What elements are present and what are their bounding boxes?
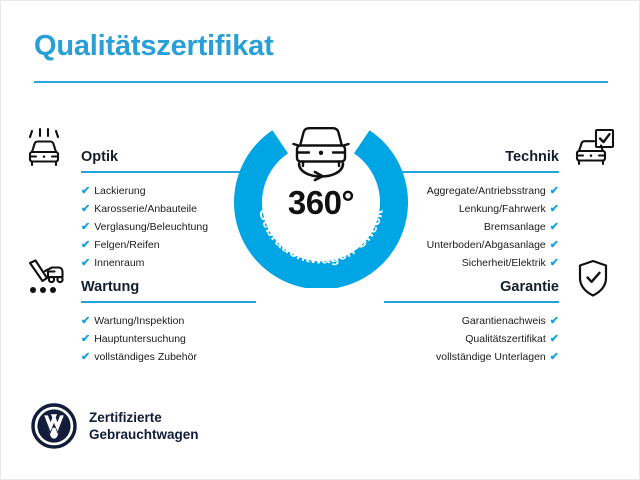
section-optik-header: Optik <box>24 127 256 173</box>
check-icon: ✔ <box>81 221 90 233</box>
section-optik-underline <box>81 171 256 173</box>
section-garantie-underline <box>384 301 559 303</box>
badge-360-gebrauchtwagen-check: Gebrauchtwagen-Check 360° <box>234 114 408 288</box>
list-item: ✔Lackierung <box>81 182 256 200</box>
section-optik-title: Optik <box>81 150 256 166</box>
check-icon: ✔ <box>550 315 559 327</box>
shield-check-icon <box>570 257 616 301</box>
section-wartung: Wartung ✔Wartung/Inspektion ✔Hauptunters… <box>24 257 256 367</box>
list-item-label: Felgen/Reifen <box>94 239 159 251</box>
section-garantie-title: Garantie <box>384 280 559 296</box>
list-item: Lenkung/Fahrwerk✔ <box>384 200 559 218</box>
list-item: ✔Karosserie/Anbauteile <box>81 200 256 218</box>
list-item: vollständige Unterlagen✔ <box>384 348 559 366</box>
section-technik: Technik Aggregate/Antriebsstrang✔ Lenkun… <box>384 127 616 273</box>
list-item-label: Garantienachweis <box>462 315 546 327</box>
car-wrench-icon <box>24 257 70 301</box>
section-technik-titlewrap: Technik <box>384 150 559 173</box>
list-item-label: Karosserie/Anbauteile <box>94 203 197 215</box>
header: Qualitätszertifikat <box>34 31 608 83</box>
section-garantie-list: Garantienachweis✔ Qualitätszertifikat✔ v… <box>384 312 616 367</box>
check-icon: ✔ <box>81 203 90 215</box>
list-item-label: Verglasung/Beleuchtung <box>94 221 208 233</box>
list-item-label: Unterboden/Abgasanlage <box>427 239 546 251</box>
footer-logo: Zertifizierte Gebrauchtwagen <box>31 403 199 449</box>
certificate-page: Qualitätszertifikat Optik ✔Lackieru <box>0 0 640 480</box>
list-item: Qualitätszertifikat✔ <box>384 330 559 348</box>
list-item: ✔Wartung/Inspektion <box>81 312 256 330</box>
section-technik-title: Technik <box>384 150 559 166</box>
section-technik-header: Technik <box>384 127 616 173</box>
check-icon: ✔ <box>550 203 559 215</box>
list-item: Aggregate/Antriebsstrang✔ <box>384 182 559 200</box>
check-icon: ✔ <box>550 239 559 251</box>
check-icon: ✔ <box>550 351 559 363</box>
section-technik-underline <box>384 171 559 173</box>
list-item: ✔Verglasung/Beleuchtung <box>81 218 256 236</box>
list-item: Unterboden/Abgasanlage✔ <box>384 237 559 255</box>
page-title: Qualitätszertifikat <box>34 31 608 63</box>
check-icon: ✔ <box>550 185 559 197</box>
list-item-label: Wartung/Inspektion <box>94 315 184 327</box>
section-optik: Optik ✔Lackierung ✔Karosserie/Anbauteile… <box>24 127 256 273</box>
list-item: ✔Hauptuntersuchung <box>81 330 256 348</box>
section-garantie: Garantie Garantienachweis✔ Qualitätszert… <box>384 257 616 367</box>
title-divider <box>34 81 608 83</box>
list-item: Bremsanlage✔ <box>384 218 559 236</box>
list-item: Garantienachweis✔ <box>384 312 559 330</box>
list-item-label: vollständige Unterlagen <box>436 351 546 363</box>
check-icon: ✔ <box>550 221 559 233</box>
section-garantie-titlewrap: Garantie <box>384 280 559 303</box>
car-shine-icon <box>24 127 70 171</box>
vw-logo-label: Zertifizierte Gebrauchtwagen <box>89 409 199 444</box>
list-item-label: Hauptuntersuchung <box>94 333 186 345</box>
vw-logo-icon <box>31 403 77 449</box>
list-item: ✔vollständiges Zubehör <box>81 348 256 366</box>
section-optik-titlewrap: Optik <box>81 150 256 173</box>
car-checkbox-icon <box>570 127 616 171</box>
section-wartung-underline <box>81 301 256 303</box>
section-wartung-titlewrap: Wartung <box>81 280 256 303</box>
list-item-label: Bremsanlage <box>484 221 546 233</box>
list-item-label: Lackierung <box>94 185 145 197</box>
list-item-label: Qualitätszertifikat <box>465 333 546 345</box>
list-item-label: Lenkung/Fahrwerk <box>459 203 546 215</box>
check-icon: ✔ <box>81 351 90 363</box>
list-item-label: vollständiges Zubehör <box>94 351 197 363</box>
check-icon: ✔ <box>81 239 90 251</box>
list-item-label: Aggregate/Antriebsstrang <box>427 185 546 197</box>
section-garantie-header: Garantie <box>384 257 616 303</box>
section-wartung-header: Wartung <box>24 257 256 303</box>
list-item: ✔Felgen/Reifen <box>81 237 256 255</box>
vw-logo-label-line1: Zertifizierte <box>89 409 199 426</box>
section-wartung-list: ✔Wartung/Inspektion ✔Hauptuntersuchung ✔… <box>24 312 256 367</box>
section-wartung-title: Wartung <box>81 280 256 296</box>
check-icon: ✔ <box>550 333 559 345</box>
check-icon: ✔ <box>81 185 90 197</box>
vw-logo-label-line2: Gebrauchtwagen <box>89 426 199 443</box>
car-rotation-icon <box>282 117 360 183</box>
check-icon: ✔ <box>81 315 90 327</box>
check-icon: ✔ <box>81 333 90 345</box>
